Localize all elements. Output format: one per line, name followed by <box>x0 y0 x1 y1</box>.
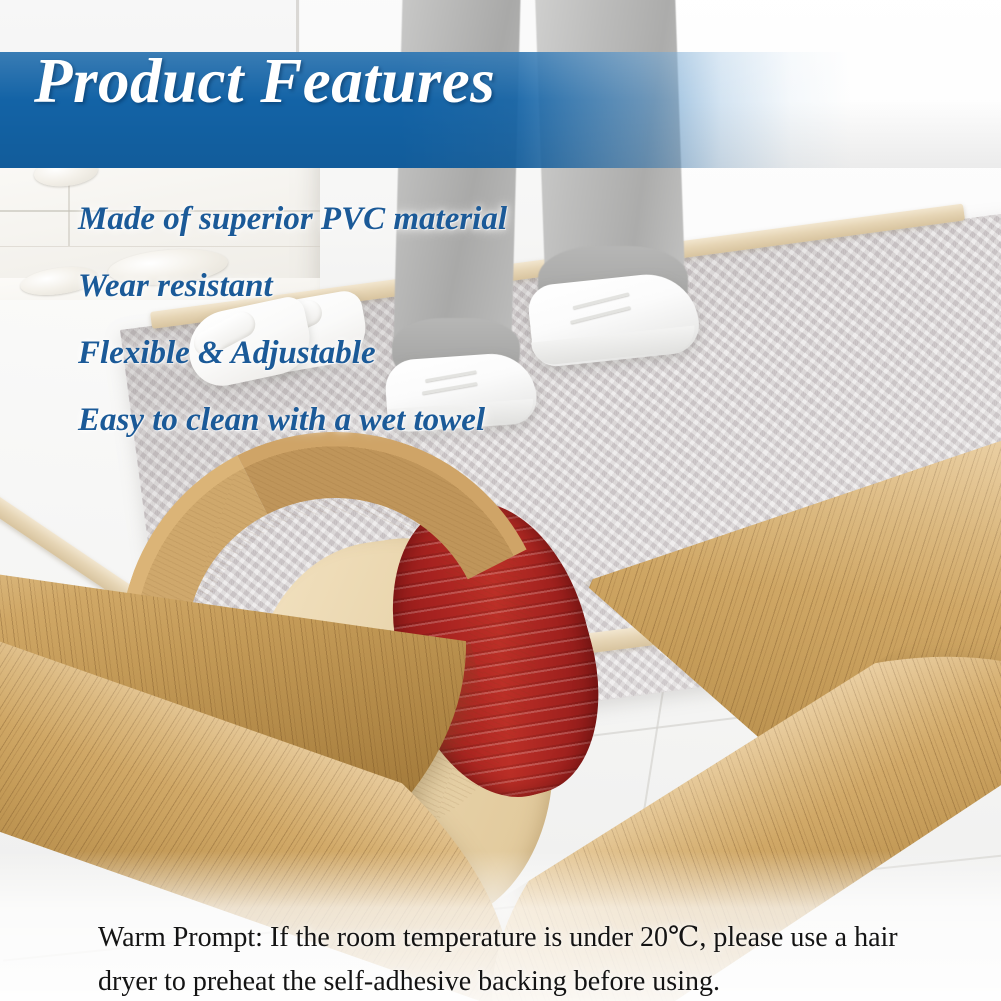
feature-item: Made of superior PVC material <box>78 186 778 253</box>
page-title: Product Features <box>34 50 495 113</box>
warm-prompt-line-2: dryer to preheat the self-adhesive backi… <box>98 960 948 1001</box>
warm-prompt-line-1: Warm Prompt: If the room temperature is … <box>98 916 948 960</box>
feature-list: Made of superior PVC material Wear resis… <box>78 186 778 454</box>
feature-item: Wear resistant <box>78 253 778 320</box>
feature-item: Flexible & Adjustable <box>78 320 778 387</box>
product-feature-image: Product Features Made of superior PVC ma… <box>0 0 1001 1001</box>
warm-prompt: Warm Prompt: If the room temperature is … <box>98 916 948 1001</box>
feature-item: Easy to clean with a wet towel <box>78 387 778 454</box>
